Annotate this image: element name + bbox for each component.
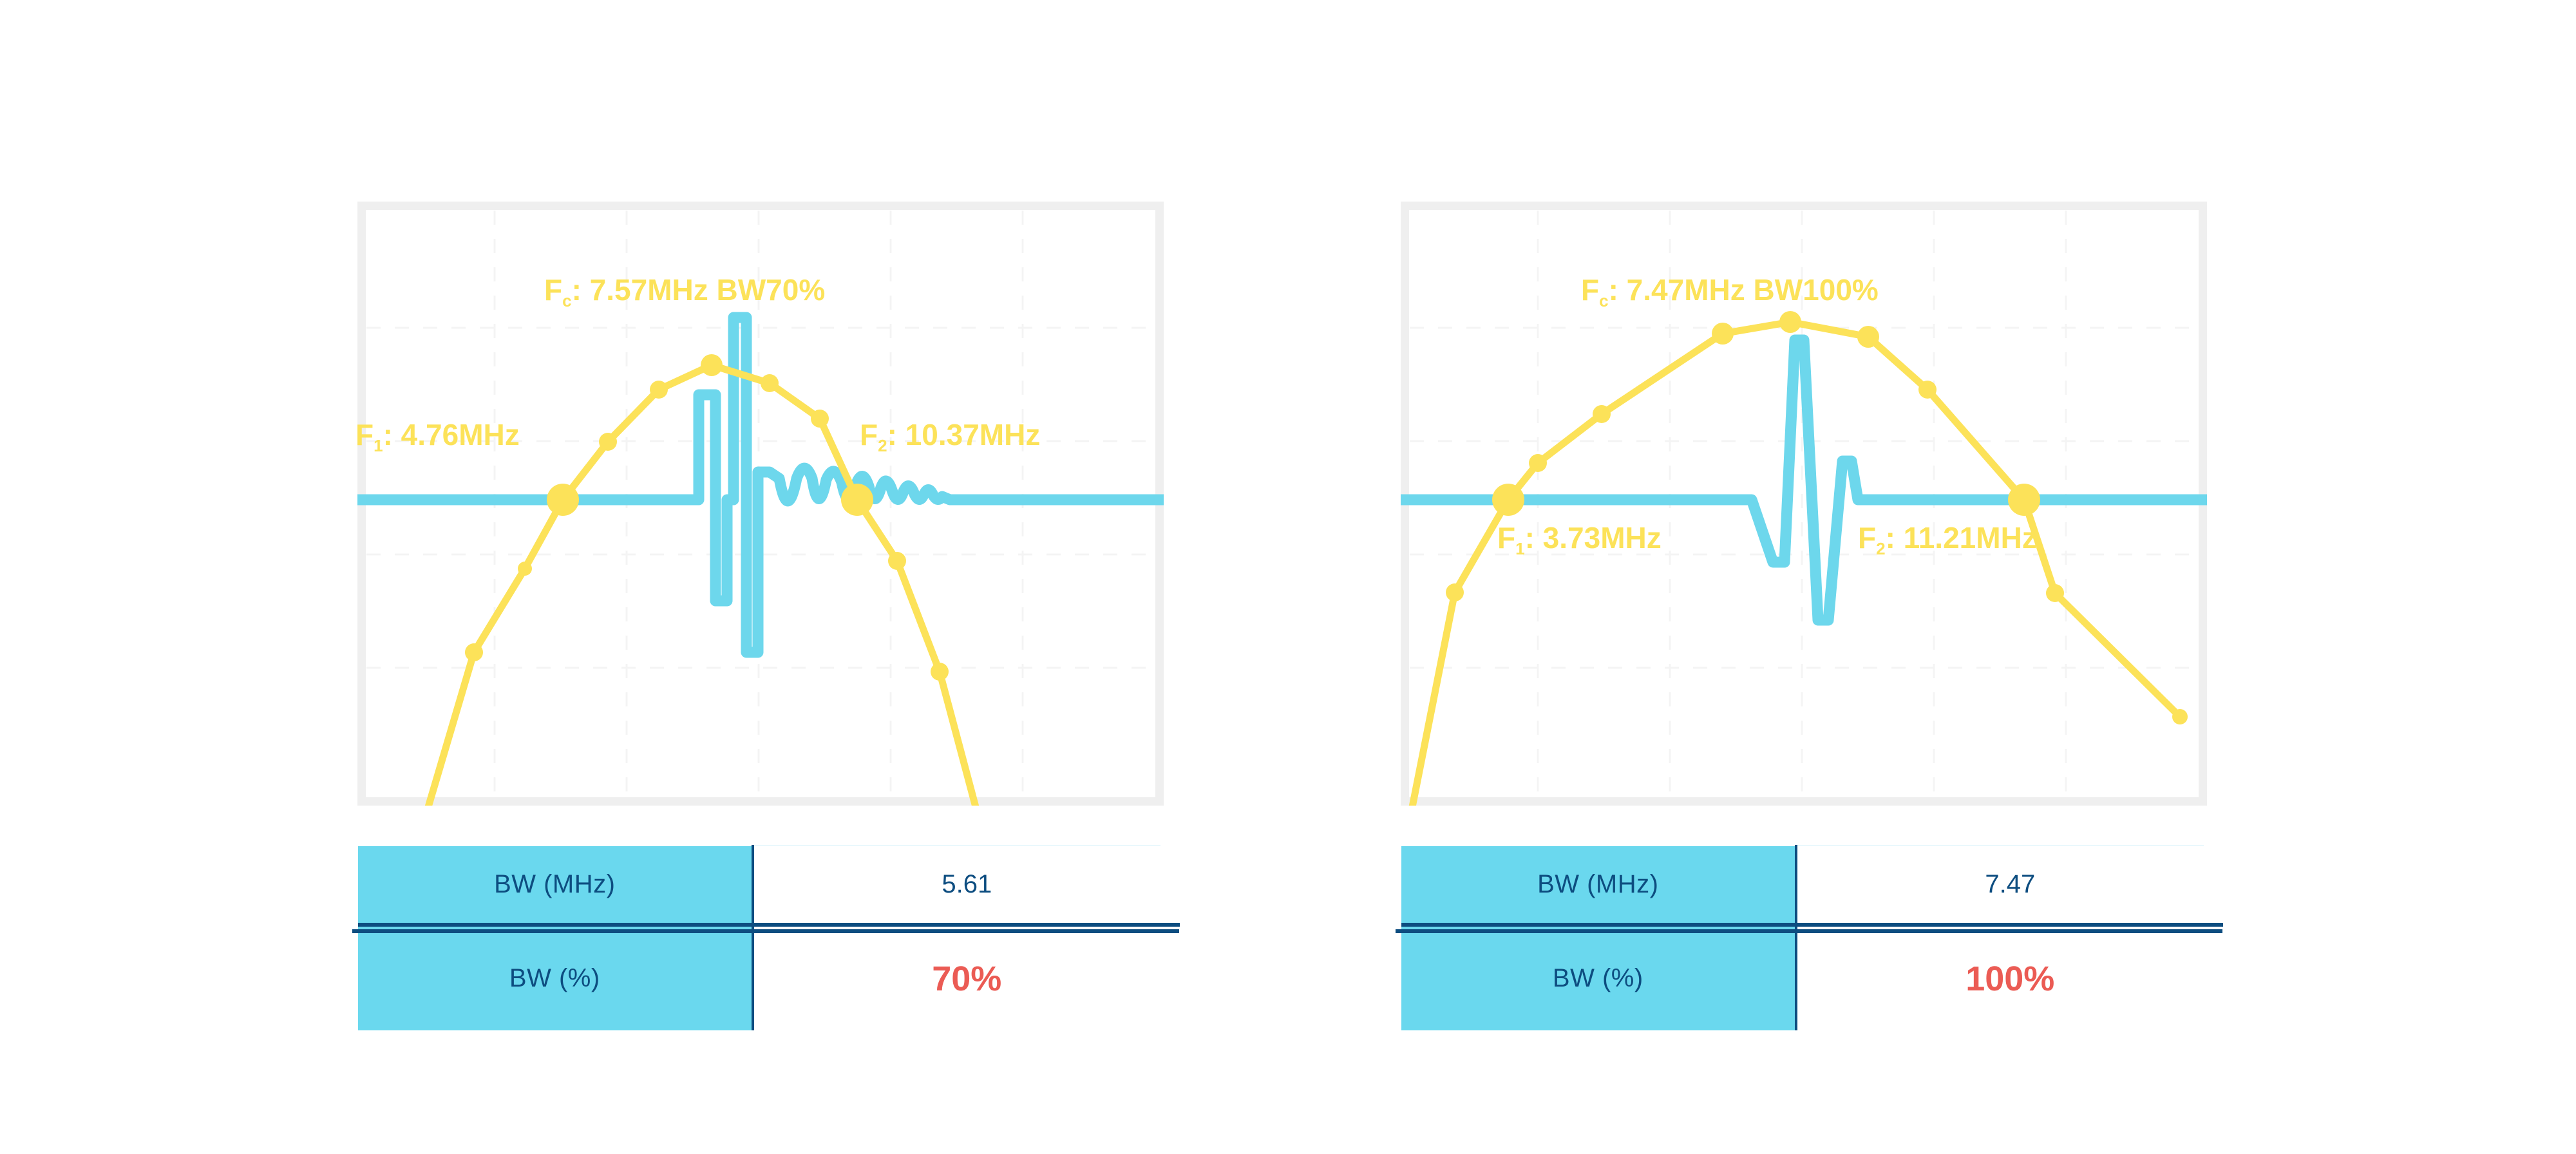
f1-value: : 4.76MHz bbox=[383, 418, 520, 451]
f2-value: : 10.37MHz bbox=[887, 418, 1041, 451]
bandwidth-table-right: BW (MHz) 7.47 BW (%) 100% bbox=[1401, 845, 2223, 1030]
pulse-echo-waveform-left bbox=[357, 317, 1164, 652]
row-value-bw-pct: 100% bbox=[1796, 925, 2223, 1030]
f2-subscript: 2 bbox=[1876, 539, 1885, 558]
row-value-bw-pct: 70% bbox=[753, 925, 1180, 1030]
table-row: BW (%) 100% bbox=[1401, 925, 2223, 1030]
fc-value: : 7.47MHz BW100% bbox=[1609, 273, 1879, 307]
table-row: BW (%) 70% bbox=[358, 925, 1180, 1030]
fc-symbol: F bbox=[1581, 273, 1599, 307]
f2-symbol: F bbox=[1858, 521, 1876, 554]
table-midrule-right bbox=[1396, 929, 2222, 933]
table-row: BW (MHz) 5.61 bbox=[358, 846, 1180, 925]
fc-value: : 7.57MHz BW70% bbox=[572, 273, 826, 307]
row-label-bw-pct: BW (%) bbox=[358, 925, 753, 1030]
row-value-bw-mhz: 5.61 bbox=[753, 846, 1180, 925]
table-midrule-left bbox=[352, 929, 1179, 933]
row-label-bw-pct: BW (%) bbox=[1401, 925, 1796, 1030]
f2-value: : 11.21MHz bbox=[1886, 521, 2037, 554]
row-label-bw-mhz: BW (MHz) bbox=[1401, 846, 1796, 925]
table-row: BW (MHz) 7.47 bbox=[1401, 846, 2223, 925]
annotation-upper-cutoff-left: F2: 10.37MHz bbox=[860, 417, 1040, 456]
spectrum-panel-left: Fc: 7.57MHz BW70% F1: 4.76MHz F2: 10.37M… bbox=[357, 202, 1164, 806]
annotation-center-frequency-right: Fc: 7.47MHz BW100% bbox=[1581, 272, 1879, 311]
f1-symbol: F bbox=[1497, 521, 1515, 554]
f1-symbol: F bbox=[355, 418, 374, 451]
spectrum-panel-right: Fc: 7.47MHz BW100% F1: 3.73MHz F2: 11.21… bbox=[1401, 202, 2207, 806]
annotation-lower-cutoff-left: F1: 4.76MHz bbox=[355, 417, 520, 456]
annotation-center-frequency-left: Fc: 7.57MHz BW70% bbox=[544, 272, 825, 311]
figure-canvas: Fc: 7.57MHz BW70% F1: 4.76MHz F2: 10.37M… bbox=[0, 0, 2576, 1154]
spectrum-markers-left bbox=[465, 354, 949, 681]
row-value-bw-mhz: 7.47 bbox=[1796, 846, 2223, 925]
bandwidth-table-left: BW (MHz) 5.61 BW (%) 70% bbox=[358, 845, 1180, 1030]
f1-subscript: 1 bbox=[1515, 539, 1524, 558]
f1-value: : 3.73MHz bbox=[1525, 521, 1662, 554]
annotation-upper-cutoff-right: F2: 11.21MHz bbox=[1858, 520, 2037, 559]
f1-subscript: 1 bbox=[374, 436, 383, 455]
f2-subscript: 2 bbox=[878, 436, 887, 455]
fc-subscript: c bbox=[562, 291, 571, 310]
fc-subscript: c bbox=[1599, 291, 1608, 310]
row-label-bw-mhz: BW (MHz) bbox=[358, 846, 753, 925]
f2-symbol: F bbox=[860, 418, 878, 451]
fc-symbol: F bbox=[544, 273, 562, 307]
annotation-lower-cutoff-right: F1: 3.73MHz bbox=[1497, 520, 1662, 559]
